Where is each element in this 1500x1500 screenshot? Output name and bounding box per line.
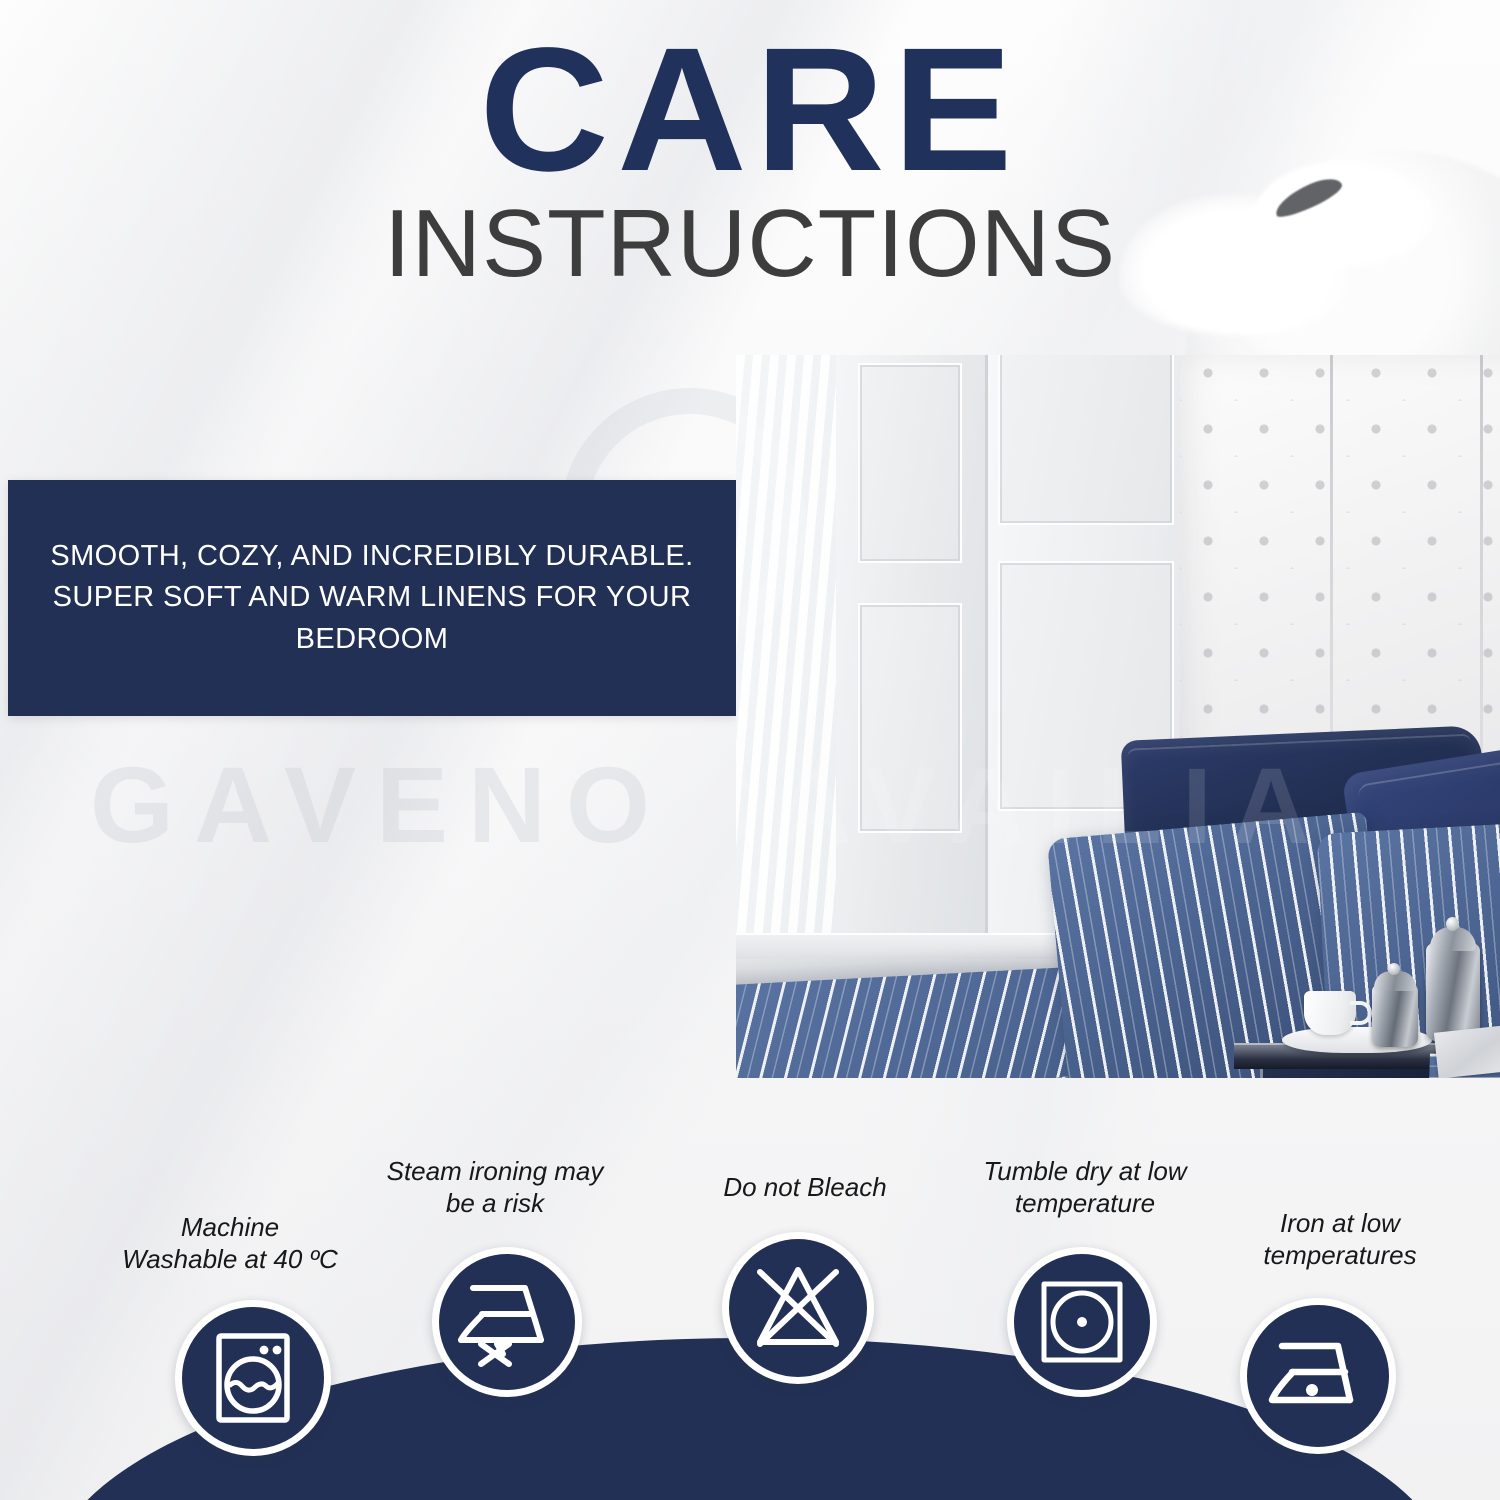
care-label-machine-wash: Machine Washable at 40 ºC: [40, 1212, 420, 1275]
care-label-no-steam-iron: Steam ironing may be a risk: [325, 1156, 665, 1219]
care-label-iron-low: Iron at low temperatures: [1190, 1208, 1490, 1271]
washing-machine-icon: [175, 1300, 331, 1456]
care-symbols-row: Machine Washable at 40 ºC Steam ironing …: [0, 0, 1500, 1500]
no-steam-iron-icon: [432, 1247, 582, 1397]
infographic-canvas: GAVENO CAVAILIA CARE INSTRUCTIONS SMOOTH…: [0, 0, 1500, 1500]
care-label-do-not-bleach: Do not Bleach: [650, 1172, 960, 1204]
tumble-dry-low-icon: [1007, 1247, 1157, 1397]
iron-low-temp-icon: [1240, 1298, 1396, 1454]
do-not-bleach-icon: [722, 1232, 874, 1384]
